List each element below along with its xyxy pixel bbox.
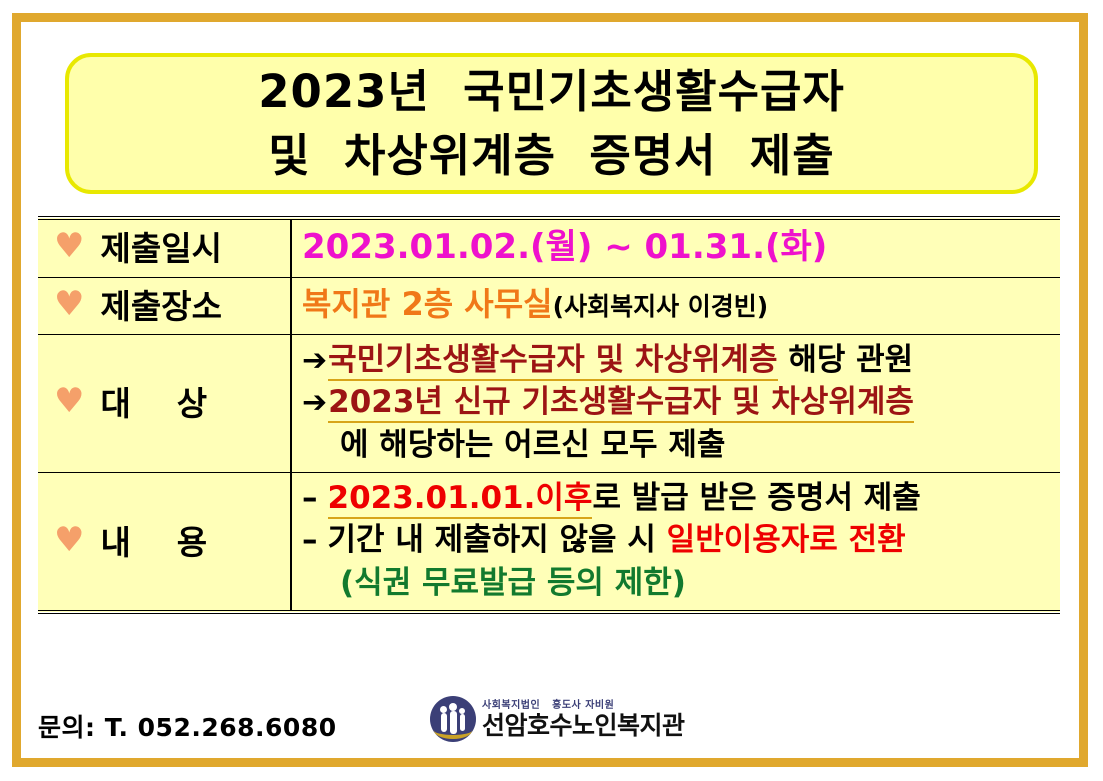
value-segment: 일반이용자로 전환 xyxy=(667,522,906,558)
row-label: 제출장소 xyxy=(100,280,221,328)
value-line: ➔2023년 신규 기초생활수급자 및 차상위계층 xyxy=(302,381,1060,423)
value-segment: 에 해당하는 어르신 모두 제출 xyxy=(340,427,725,463)
heart-icon: ♥ xyxy=(54,229,84,263)
value-line: ➔국민기초생활수급자 및 차상위계층 해당 관원 xyxy=(302,339,1060,381)
value-line: 2023.01.02.(월) ~ 01.31.(화) xyxy=(302,224,1060,271)
value-segment: (식권 무료발급 등의 제한) xyxy=(340,565,686,601)
value-segment: 복지관 2층 사무실 xyxy=(302,285,553,323)
logo-subtitle: 사회복지법인 흥도사 자비원 xyxy=(482,701,685,711)
row-label: 대 상 xyxy=(100,377,207,425)
row-label-cell: ♥ 제출일시 xyxy=(38,218,291,277)
row-label-cell: ♥ 내 용 xyxy=(38,472,291,612)
row-value-cell: 2023.01.02.(월) ~ 01.31.(화) xyxy=(291,218,1060,277)
table-row: ♥ 제출일시 2023.01.02.(월) ~ 01.31.(화) xyxy=(38,218,1060,277)
heart-icon: ♥ xyxy=(54,523,84,557)
row-label-cell: ♥ 제출장소 xyxy=(38,277,291,334)
info-table: ♥ 제출일시 2023.01.02.(월) ~ 01.31.(화) ♥ 제출장소 xyxy=(38,216,1060,614)
arrow-icon: ➔ xyxy=(302,343,327,378)
value-line: –기간 내 제출하지 않을 시 일반이용자로 전환 xyxy=(302,519,1060,561)
value-segment: 2023.01.01.이후 xyxy=(328,480,593,519)
logo-title: 선암호수노인복지관 xyxy=(482,713,685,738)
value-segment: 국민기초생활수급자 및 차상위계층 xyxy=(328,342,777,381)
value-line: (식권 무료발급 등의 제한) xyxy=(302,562,1060,604)
info-table-body: ♥ 제출일시 2023.01.02.(월) ~ 01.31.(화) ♥ 제출장소 xyxy=(38,218,1060,612)
footer: 문의: T. 052.268.6080 사회복지법인 흥도사 자비원 선암호수노… xyxy=(38,700,1060,752)
heart-icon: ♥ xyxy=(54,287,84,321)
table-row: ♥ 내 용 –2023.01.01.이후로 발급 받은 증명서 제출 –기간 내… xyxy=(38,472,1060,612)
value-segment: 해당 관원 xyxy=(778,342,914,378)
value-segment: 2023.01.02.(월) ~ 01.31.(화) xyxy=(302,227,827,267)
value-segment: 기간 내 제출하지 않을 시 xyxy=(328,522,667,558)
title-line-2: 및 차상위계층 증명서 제출 xyxy=(268,124,834,188)
row-label-cell: ♥ 대 상 xyxy=(38,334,291,472)
row-value-cell: ➔국민기초생활수급자 및 차상위계층 해당 관원 ➔2023년 신규 기초생활수… xyxy=(291,334,1060,472)
table-row: ♥ 제출장소 복지관 2층 사무실(사회복지사 이경빈) xyxy=(38,277,1060,334)
heart-icon: ♥ xyxy=(54,384,84,418)
title-line-1: 2023년 국민기초생활수급자 xyxy=(258,60,845,124)
logo-text: 사회복지법인 흥도사 자비원 선암호수노인복지관 xyxy=(482,701,685,738)
value-segment-note: (사회복지사 이경빈) xyxy=(553,292,769,321)
dash-icon: – xyxy=(302,522,318,558)
value-segment: 2023년 신규 기초생활수급자 및 차상위계층 xyxy=(328,384,914,423)
value-line: 복지관 2층 사무실(사회복지사 이경빈) xyxy=(302,283,1060,327)
table-row: ♥ 대 상 ➔국민기초생활수급자 및 차상위계층 해당 관원 ➔2023년 신규… xyxy=(38,334,1060,472)
row-value-cell: –2023.01.01.이후로 발급 받은 증명서 제출 –기간 내 제출하지 … xyxy=(291,472,1060,612)
value-line: –2023.01.01.이후로 발급 받은 증명서 제출 xyxy=(302,477,1060,519)
dash-icon: – xyxy=(302,480,318,516)
contact-phone: 문의: T. 052.268.6080 xyxy=(38,708,337,744)
row-label: 제출일시 xyxy=(100,222,221,270)
value-line: 에 해당하는 어르신 모두 제출 xyxy=(302,424,1060,466)
logo-mark-icon xyxy=(430,696,476,742)
row-value-cell: 복지관 2층 사무실(사회복지사 이경빈) xyxy=(291,277,1060,334)
poster-page: 2023년 국민기초생활수급자 및 차상위계층 증명서 제출 ♥ 제출일시 20… xyxy=(0,0,1103,781)
organization-logo: 사회복지법인 흥도사 자비원 선암호수노인복지관 xyxy=(430,696,685,742)
arrow-icon: ➔ xyxy=(302,385,327,420)
value-segment: 로 발급 받은 증명서 제출 xyxy=(592,480,920,516)
row-label: 내 용 xyxy=(100,516,207,564)
title-banner: 2023년 국민기초생활수급자 및 차상위계층 증명서 제출 xyxy=(65,53,1038,194)
